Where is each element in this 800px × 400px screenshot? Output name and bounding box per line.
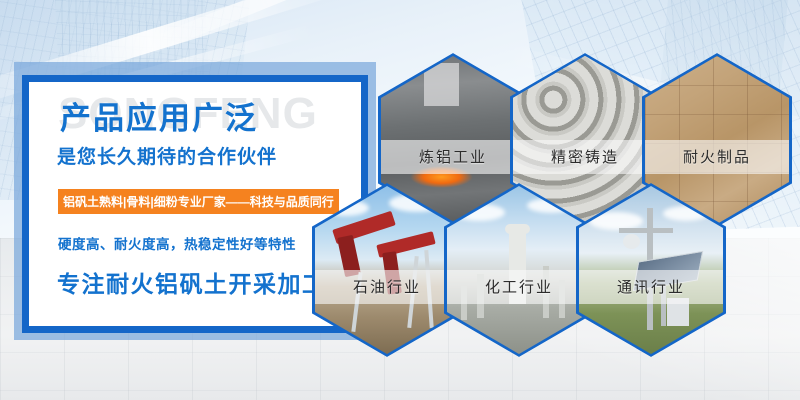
hex-label-refractory: 耐火制品 bbox=[683, 146, 751, 167]
hex-label-casting: 精密铸造 bbox=[551, 146, 619, 167]
hex-label-band: 炼铝工业 bbox=[381, 140, 525, 174]
headline: 产品应用广泛 bbox=[60, 103, 258, 134]
hex-label-chemical: 化工行业 bbox=[485, 276, 553, 297]
hex-label-band: 耐火制品 bbox=[645, 140, 789, 174]
hex-label-band: 化工行业 bbox=[447, 270, 591, 304]
hex-label-band: 通讯行业 bbox=[579, 270, 723, 304]
hex-label-band: 石油行业 bbox=[315, 270, 459, 304]
subheadline: 是您长久期待的合作伙伴 bbox=[57, 148, 277, 167]
orange-tagline-bar: 铝矾土熟料|骨料|细粉专业厂家——科技与品质同行 bbox=[58, 189, 339, 214]
hex-label-telecom: 通讯行业 bbox=[617, 276, 685, 297]
orange-tagline-text: 铝矾土熟料|骨料|细粉专业厂家——科技与品质同行 bbox=[63, 193, 334, 210]
banner-stage: SONGFENG 产品应用广泛 是您长久期待的合作伙伴 铝矾土熟料|骨料|细粉专… bbox=[0, 0, 800, 400]
hex-label-petroleum: 石油行业 bbox=[353, 276, 421, 297]
features-text: 硬度高、耐火度高，热稳定性好等特性 bbox=[58, 233, 296, 253]
hex-label-smelting: 炼铝工业 bbox=[419, 146, 487, 167]
tagline-text: 专注耐火铝矾土开采加工 bbox=[57, 265, 327, 299]
hex-label-band: 精密铸造 bbox=[513, 140, 657, 174]
